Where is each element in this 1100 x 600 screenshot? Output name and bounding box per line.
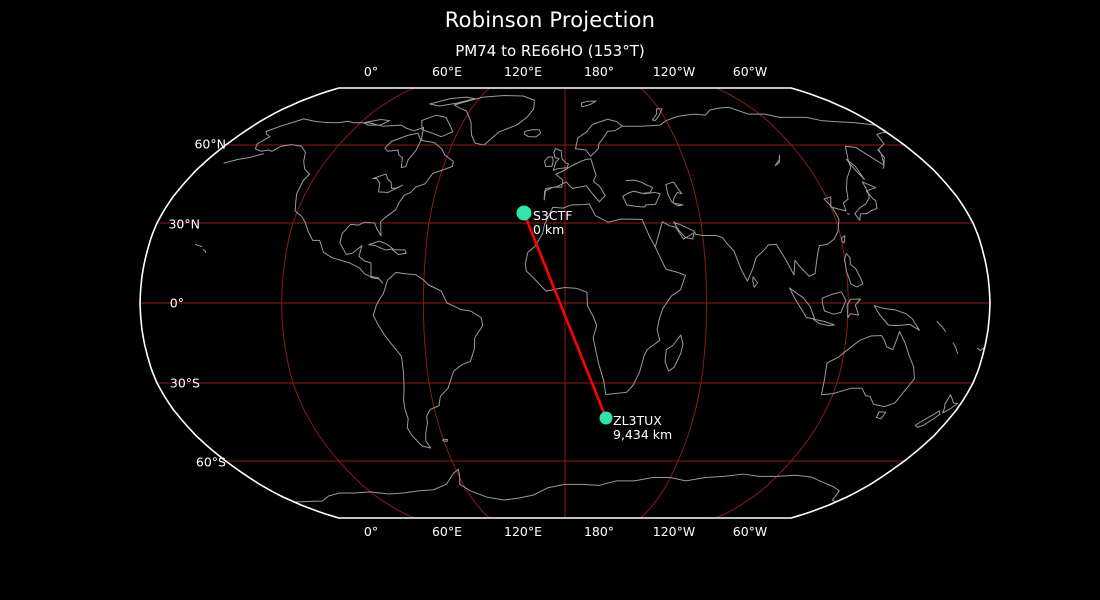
- robinson-projection-figure: Robinson Projection PM74 to RE66HO (153°…: [0, 0, 1100, 600]
- lat-tick-2: 0°: [0, 296, 184, 311]
- lon-tick-top-0: 0°: [364, 64, 378, 79]
- lon-tick-bottom-3: 180°: [584, 524, 614, 539]
- lon-tick-top-1: 60°E: [432, 64, 462, 79]
- station-marker-zl3tux[interactable]: [600, 412, 613, 425]
- coastline-paths: [195, 96, 984, 503]
- station-distance: 9,434 km: [613, 428, 672, 442]
- lon-tick-bottom-1: 60°E: [432, 524, 462, 539]
- lat-tick-3: 30°S: [0, 376, 200, 391]
- lat-tick-0: 60°N: [0, 137, 226, 152]
- lon-tick-top-3: 180°: [584, 64, 614, 79]
- lon-tick-bottom-4: 120°W: [653, 524, 695, 539]
- lon-tick-top-5: 60°W: [733, 64, 768, 79]
- lat-tick-4: 60°S: [0, 455, 226, 470]
- station-callsign: S3CTF: [533, 209, 572, 223]
- lon-tick-top-2: 120°E: [504, 64, 542, 79]
- station-label-zl3tux: ZL3TUX9,434 km: [613, 414, 672, 442]
- station-marker-s3ctf[interactable]: [517, 206, 532, 221]
- station-callsign: ZL3TUX: [613, 414, 672, 428]
- lon-tick-bottom-2: 120°E: [504, 524, 542, 539]
- coastlines: [195, 96, 984, 503]
- station-distance: 0 km: [533, 223, 572, 237]
- graticule: [140, 88, 990, 518]
- lon-tick-top-4: 120°W: [653, 64, 695, 79]
- lat-tick-1: 30°N: [0, 217, 200, 232]
- lon-tick-bottom-0: 0°: [364, 524, 378, 539]
- lon-tick-bottom-5: 60°W: [733, 524, 768, 539]
- graticule-lines: [140, 88, 990, 518]
- station-label-s3ctf: S3CTF0 km: [533, 209, 572, 237]
